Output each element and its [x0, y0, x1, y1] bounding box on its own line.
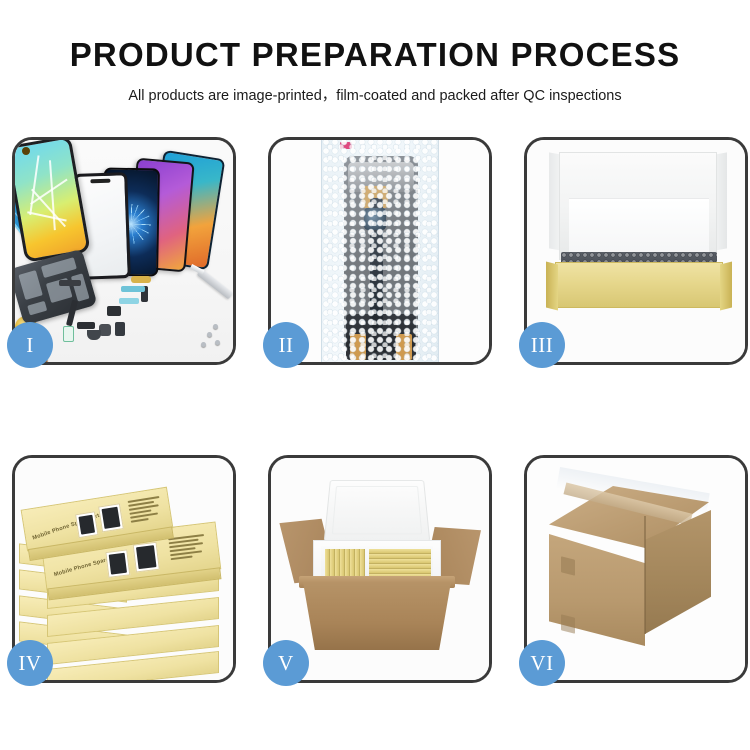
screw	[213, 324, 218, 329]
speaker-part	[87, 330, 101, 340]
bubble-texture-overlay	[322, 140, 438, 362]
step-image-2	[271, 140, 489, 362]
bubble-wrap-scene	[271, 140, 489, 362]
sim-tray-part	[63, 326, 74, 342]
page-subtitle: All products are image-printed，film-coat…	[0, 84, 750, 105]
step-panel-1: I	[12, 137, 236, 365]
carton-loading-scene	[271, 458, 489, 680]
box-stack: Mobile Phone Spare Parts	[17, 466, 233, 678]
foam-lid	[324, 480, 431, 541]
box-product-image	[105, 549, 130, 577]
blue-flex-cable	[119, 298, 139, 304]
page-title: PRODUCT PREPARATION PROCESS	[0, 36, 750, 74]
box-product-image	[75, 511, 99, 538]
phone-parts-scene	[15, 140, 233, 362]
spare-part	[77, 322, 95, 329]
crack-line	[49, 160, 55, 230]
crack-line	[27, 211, 66, 221]
phone-thumb	[136, 545, 157, 569]
phone-thumb	[102, 507, 121, 529]
housing-component	[27, 301, 47, 316]
notch-icon	[90, 179, 110, 184]
box-spec-lines	[168, 533, 211, 562]
crack-line	[30, 179, 67, 205]
phone-cracked-gradient-screen	[15, 140, 91, 263]
box-product-image	[98, 503, 124, 532]
screw	[201, 342, 206, 347]
spare-part	[59, 280, 81, 286]
housing-component	[18, 270, 42, 300]
stacked-boxes-scene: Mobile Phone Spare Parts	[15, 458, 233, 680]
bubble-wrap-bag	[321, 140, 439, 362]
step-badge-6: VI	[519, 640, 565, 686]
step-image-5	[271, 458, 489, 680]
step-panel-4: Mobile Phone Spare Parts	[12, 455, 236, 683]
step-badge-1: I	[7, 322, 53, 368]
screw	[207, 332, 212, 337]
step-panel-2: II	[268, 137, 492, 365]
crack-line	[31, 189, 66, 227]
step-badge-4: IV	[7, 640, 53, 686]
carton-body	[303, 582, 451, 650]
carton-label-patch	[561, 614, 575, 633]
crack-line	[29, 155, 39, 215]
step-image-4: Mobile Phone Spare Parts	[15, 458, 233, 680]
stacked-box-printed-top: Mobile Phone Spare Parts	[21, 487, 174, 552]
housing-component	[41, 257, 77, 278]
spec-line	[171, 555, 193, 559]
box-product-image	[133, 542, 160, 573]
step-image-6	[527, 458, 745, 680]
carton-edge	[644, 516, 646, 634]
step-badge-5: V	[263, 640, 309, 686]
spec-line	[131, 518, 149, 522]
spare-part	[107, 306, 121, 316]
phone-thumb	[109, 553, 127, 575]
yellow-kraft-tray	[555, 262, 723, 308]
open-tray-scene	[527, 140, 745, 362]
tweezers-tool	[197, 269, 233, 300]
spare-part	[115, 322, 125, 336]
housing-component	[71, 273, 90, 301]
step-badge-3: III	[519, 322, 565, 368]
step-image-3	[527, 140, 745, 362]
blue-flex-cable	[121, 286, 145, 292]
gold-contact-strip	[131, 276, 151, 283]
screw	[215, 340, 220, 345]
step-panel-3: III	[524, 137, 748, 365]
infographic-root: PRODUCT PREPARATION PROCESS All products…	[0, 0, 750, 750]
sealed-carton-scene	[527, 458, 745, 680]
step-image-1	[15, 140, 233, 362]
step-badge-2: II	[263, 322, 309, 368]
carton-label-patch	[561, 556, 575, 575]
step-panel-5: V	[268, 455, 492, 683]
phone-thumb	[78, 515, 95, 535]
step-panel-6: VI	[524, 455, 748, 683]
